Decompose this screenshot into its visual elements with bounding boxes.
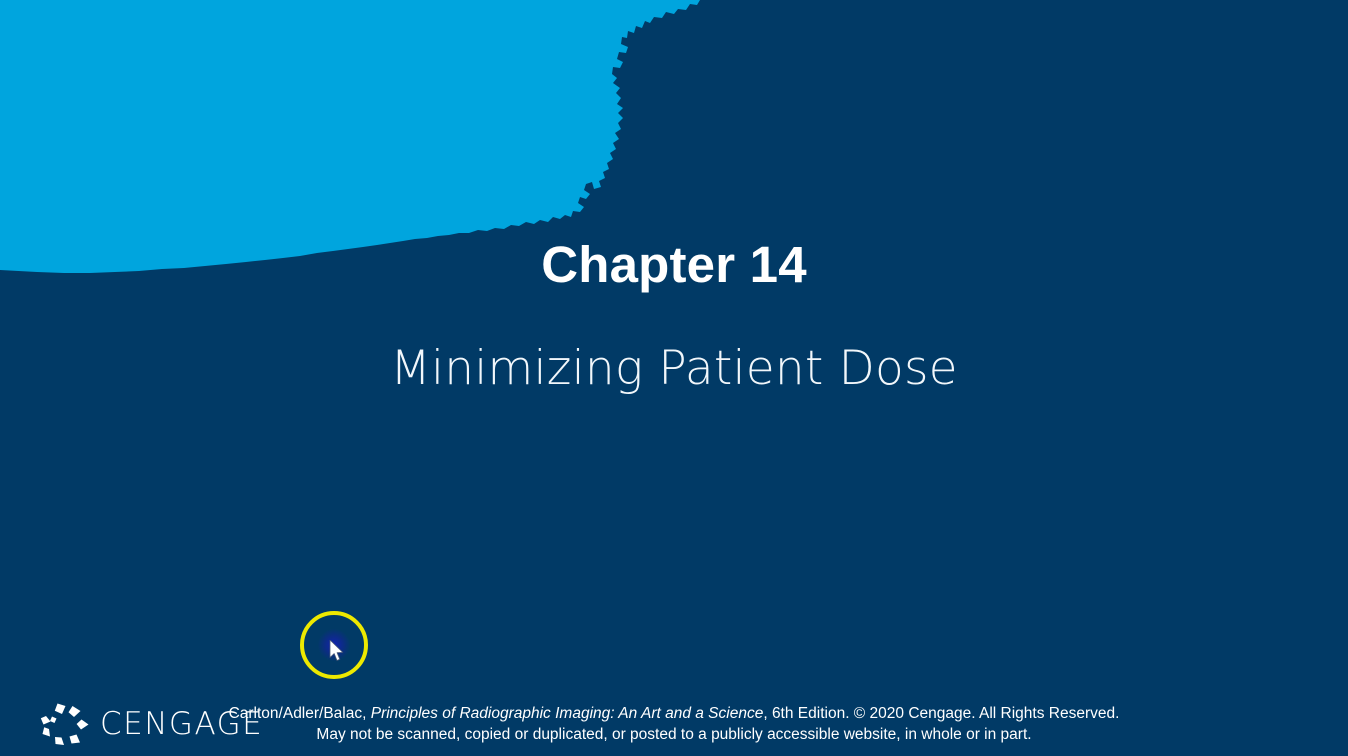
- presentation-slide: Chapter 14 Minimizing Patient Dose Carlt…: [0, 0, 1348, 756]
- cengage-burst-icon: [40, 702, 90, 746]
- page-title: Chapter 14: [0, 238, 1348, 292]
- cengage-wordmark: CENGAGE: [100, 709, 263, 740]
- mouse-pointer-icon: [329, 640, 345, 662]
- cengage-logo: CENGAGE: [40, 700, 263, 748]
- title-block: Chapter 14 Minimizing Patient Dose: [0, 238, 1348, 394]
- page-subtitle: Minimizing Patient Dose: [0, 292, 1348, 395]
